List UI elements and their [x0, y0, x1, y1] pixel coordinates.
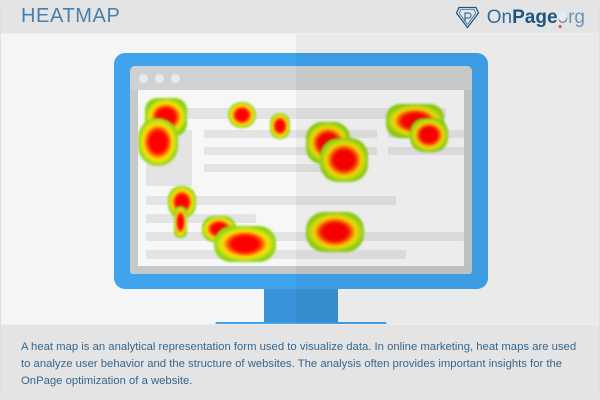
placeholder-bar — [146, 250, 406, 259]
infographic-card: HEATMAP OnPage.org — [0, 0, 600, 400]
monitor-frame — [114, 53, 488, 289]
monitor-stand-neck — [264, 289, 338, 322]
description-text: A heat map is an analytical representati… — [21, 339, 579, 390]
logo-text: OnPage.org — [487, 7, 585, 29]
placeholder-bar — [146, 232, 464, 241]
blob-right-b — [410, 118, 448, 152]
page-viewport — [138, 90, 464, 266]
blob-center-b — [320, 138, 368, 182]
blob-lower-right — [306, 212, 364, 252]
page-title: HEATMAP — [21, 5, 120, 28]
onpage-logo[interactable]: OnPage.org — [455, 4, 585, 31]
placeholder-bar — [146, 214, 256, 223]
window-dot-icon-3 — [171, 74, 180, 83]
logo-text-page: Page — [512, 7, 557, 28]
logo-text-on: On — [487, 7, 512, 28]
blob-lower-left-b — [174, 206, 187, 238]
blob-top-left-b — [138, 118, 178, 166]
placeholder-bar — [204, 130, 377, 138]
blob-top-small-1 — [228, 102, 256, 128]
header-bar: HEATMAP OnPage.org — [1, 1, 600, 34]
window-dot-icon-2 — [155, 74, 164, 83]
diamond-icon — [455, 6, 480, 29]
browser-chrome-bar — [130, 66, 472, 90]
blob-lower-mid-b — [214, 226, 276, 262]
illustration-stage — [1, 34, 600, 324]
footer-bar: A heat map is an analytical representati… — [1, 324, 600, 400]
window-dot-icon-1 — [139, 74, 148, 83]
blob-top-small-2 — [270, 113, 290, 139]
logo-text-dot: . — [558, 12, 567, 21]
monitor-screen — [130, 66, 472, 274]
